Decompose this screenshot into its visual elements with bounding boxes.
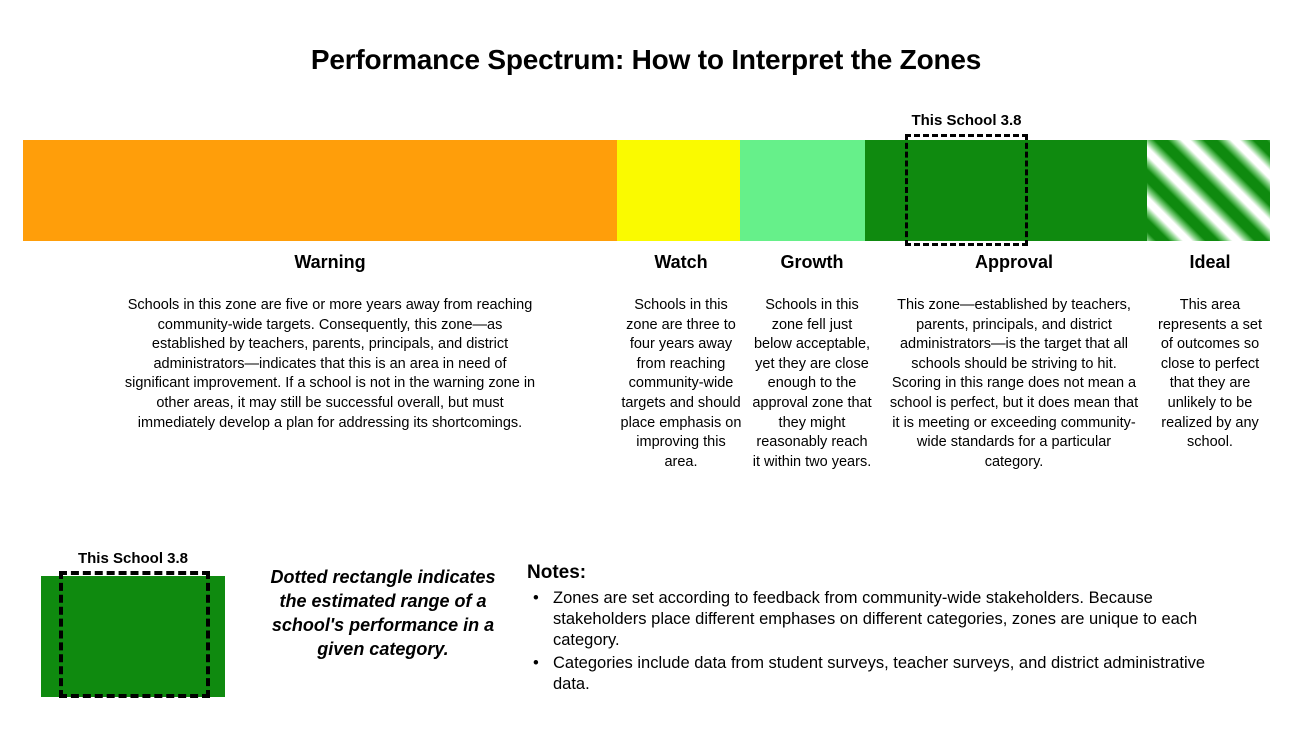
zone-band-watch [617,140,740,241]
zone-column-approval: Approval This zone—established by teache… [888,252,1140,472]
zone-heading-watch: Watch [620,252,742,273]
note-item: • Categories include data from student s… [527,653,1227,695]
school-marker-label: This School 3.8 [905,112,1028,129]
zone-band-growth [740,140,865,241]
notes-list: • Zones are set according to feedback fr… [527,588,1227,695]
legend-swatch-label: This School 3.8 [41,550,225,567]
zone-band-warning [23,140,617,241]
note-item: • Zones are set according to feedback fr… [527,588,1227,651]
zone-column-warning: Warning Schools in this zone are five or… [120,252,540,433]
zone-column-ideal: Ideal This area represents a set of outc… [1158,252,1262,453]
zone-description-approval: This zone—established by teachers, paren… [888,296,1140,472]
zone-band-approval [865,140,1147,241]
zone-description-ideal: This area represents a set of outcomes s… [1158,296,1262,453]
bullet-icon: • [533,588,539,609]
zone-description-warning: Schools in this zone are five or more ye… [120,296,540,433]
zone-description-watch: Schools in this zone are three to four y… [620,296,742,472]
zone-column-growth: Growth Schools in this zone fell just be… [752,252,872,472]
notes-heading: Notes: [527,562,1227,584]
notes-block: Notes: • Zones are set according to feed… [527,562,1227,697]
zone-heading-ideal: Ideal [1158,252,1262,273]
page-title: Performance Spectrum: How to Interpret t… [0,44,1292,76]
note-item-text: Categories include data from student sur… [553,654,1205,693]
legend-dashed-box [59,571,210,698]
zone-heading-approval: Approval [888,252,1140,273]
legend-caption: Dotted rectangle indicates the estimated… [258,565,508,661]
zone-heading-growth: Growth [752,252,872,273]
zone-column-watch: Watch Schools in this zone are three to … [620,252,742,472]
zone-heading-warning: Warning [120,252,540,273]
zone-description-growth: Schools in this zone fell just below acc… [752,296,872,472]
bullet-icon: • [533,653,539,674]
performance-spectrum-bar [23,140,1270,241]
note-item-text: Zones are set according to feedback from… [553,589,1197,649]
zone-band-ideal [1147,140,1270,241]
